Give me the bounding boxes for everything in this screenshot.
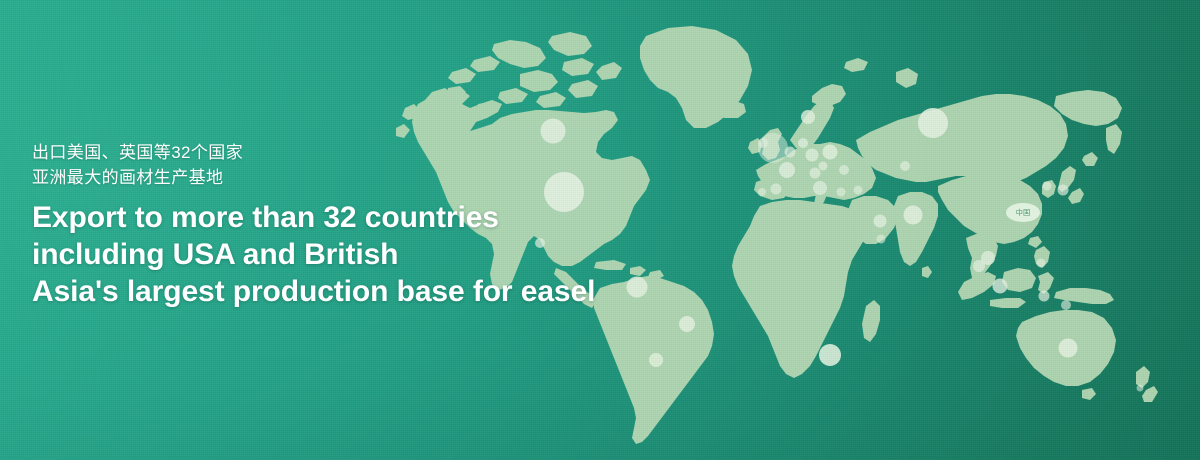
map-marker-spain xyxy=(771,184,782,195)
promo-banner: 中国 出口美国、英国等32个国家 亚洲最大的画材生产基地 Export to m… xyxy=(0,0,1200,460)
headline-en-line-3: Asia's largest production base for easel xyxy=(32,273,652,310)
map-marker-argentina xyxy=(649,353,663,367)
map-marker-germany xyxy=(806,149,819,162)
map-marker-india xyxy=(904,206,923,225)
map-marker-korea xyxy=(1043,182,1052,191)
map-marker-greece xyxy=(837,188,846,197)
map-marker-png xyxy=(1061,300,1071,310)
map-marker-netherlands xyxy=(785,147,796,158)
map-marker-saudi-arabia xyxy=(877,235,886,244)
map-marker-romania xyxy=(839,165,849,175)
map-marker-france xyxy=(779,162,795,178)
headline-en-line-2: including USA and British xyxy=(32,236,652,273)
map-marker-turkey xyxy=(854,186,863,195)
map-marker-japan xyxy=(1058,185,1069,196)
map-marker-kazakhstan xyxy=(900,161,910,171)
map-marker-italy xyxy=(813,181,827,195)
map-marker-uae xyxy=(874,215,887,228)
map-marker-portugal xyxy=(758,188,766,196)
headline-en-block: Export to more than 32 countries includi… xyxy=(32,199,652,310)
map-marker-south-africa xyxy=(819,344,841,366)
map-marker-philippines xyxy=(1037,259,1046,268)
headline-cn-line-1: 出口美国、英国等32个国家 xyxy=(32,140,652,165)
map-marker-norway xyxy=(801,110,815,124)
home-base-marker-label: 中国 xyxy=(1016,209,1030,216)
map-marker-australia xyxy=(1059,339,1078,358)
map-marker-ireland xyxy=(758,138,768,148)
headline-cn-line-2: 亚洲最大的画材生产基地 xyxy=(32,165,652,190)
map-marker-united-kingdom xyxy=(758,133,788,163)
map-marker-thailand xyxy=(973,260,985,272)
map-marker-malaysia xyxy=(993,279,1008,294)
home-base-marker: 中国 xyxy=(1006,203,1040,222)
map-marker-russia xyxy=(918,108,948,138)
map-marker-austria xyxy=(810,168,821,179)
map-marker-indonesia xyxy=(1039,291,1050,302)
map-marker-poland xyxy=(823,145,838,160)
map-marker-new-zealand xyxy=(1137,385,1144,392)
headline-block: 出口美国、英国等32个国家 亚洲最大的画材生产基地 Export to more… xyxy=(32,140,652,310)
map-marker-czech xyxy=(819,162,828,171)
headline-en-line-1: Export to more than 32 countries xyxy=(32,199,652,236)
map-marker-brazil xyxy=(679,316,695,332)
map-marker-denmark xyxy=(798,138,808,148)
